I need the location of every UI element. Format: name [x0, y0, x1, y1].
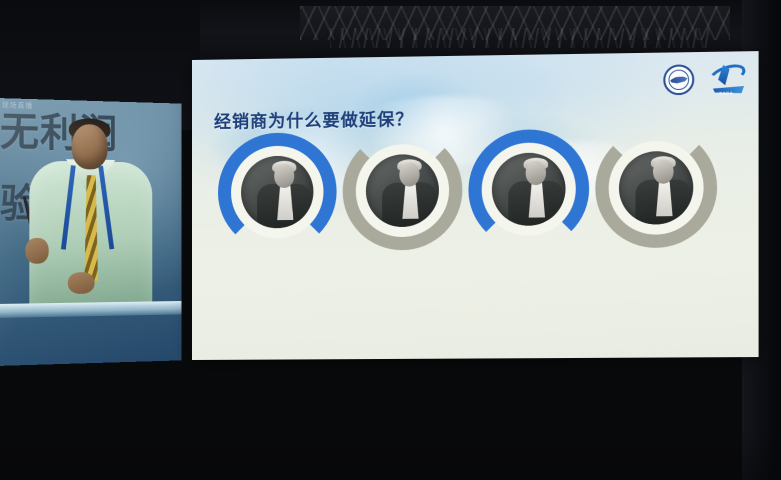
photo-arm: [372, 191, 394, 211]
projected-speaker-head: [72, 124, 108, 170]
photo-arm: [625, 188, 648, 209]
photo-arm: [247, 192, 269, 212]
slide-logo-group: CADA: [663, 63, 748, 95]
chain-photo-3: [492, 152, 566, 226]
chain-photo-2: [366, 154, 439, 227]
cada-seal-icon: [663, 64, 694, 95]
projected-speaker-hand-right: [68, 272, 95, 294]
photo-head: [526, 161, 546, 186]
cada-seal-swoosh: [670, 76, 688, 83]
slide-title: 经销商为什么要做延保？: [214, 105, 414, 133]
projected-speaker-hand-left: [25, 238, 48, 264]
chain-photo-1: [241, 156, 313, 229]
brand-swoosh-icon: CADA: [707, 63, 748, 94]
swoosh-wordmark: CADA: [719, 90, 733, 95]
side-projection-screen: 现场直播 无利润 验: [0, 98, 181, 366]
main-presentation-screen: CADA 经销商为什么要做延保？: [192, 51, 759, 360]
stage-bottom-shadow: [0, 430, 781, 480]
slide-chain-graphic: [218, 135, 748, 252]
conference-stage-photo: 现场直播 无利润 验: [0, 0, 781, 480]
photo-head: [274, 164, 294, 188]
chain-photo-4: [619, 151, 693, 225]
photo-head: [653, 159, 674, 184]
photo-arm: [498, 189, 520, 209]
lighting-truss-secondary: [330, 28, 710, 48]
photo-head: [399, 162, 419, 186]
